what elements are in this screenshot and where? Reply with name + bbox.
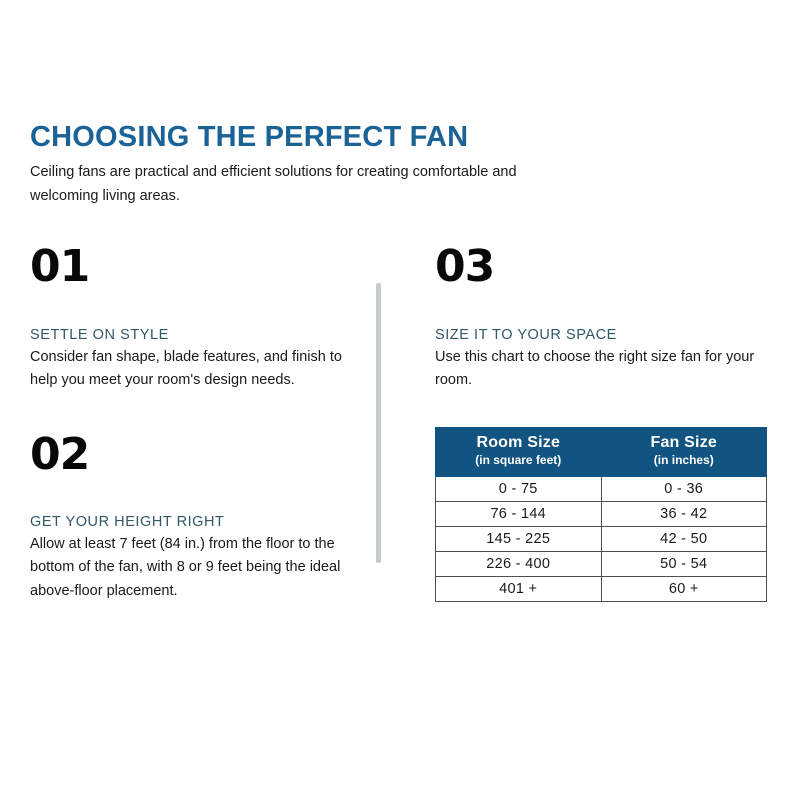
- intro-paragraph: Ceiling fans are practical and efficient…: [30, 161, 550, 208]
- table-header-row: Room Size (in square feet) Fan Size (in …: [436, 427, 767, 476]
- column-header-room-size-main: Room Size: [440, 434, 597, 452]
- column-header-fan-size-main: Fan Size: [606, 434, 763, 452]
- fan-size-chart: Room Size (in square feet) Fan Size (in …: [435, 427, 767, 602]
- table-row: 145 - 225 42 - 50: [436, 526, 767, 551]
- cell-fan-size: 50 - 54: [601, 551, 767, 576]
- step-block-03: 03 SIZE IT TO YOUR SPACE Use this chart …: [435, 245, 770, 393]
- table-row: 0 - 75 0 - 36: [436, 476, 767, 501]
- table-row: 226 - 400 50 - 54: [436, 551, 767, 576]
- header-block: CHOOSING THE PERFECT FAN Ceiling fans ar…: [30, 122, 590, 208]
- step-body-02: Allow at least 7 feet (84 in.) from the …: [30, 533, 350, 603]
- step-body-01: Consider fan shape, blade features, and …: [30, 346, 350, 393]
- step-text-01: SETTLE ON STYLE Consider fan shape, blad…: [30, 327, 350, 393]
- right-column: 03 SIZE IT TO YOUR SPACE Use this chart …: [435, 245, 770, 602]
- cell-room-size: 76 - 144: [436, 501, 602, 526]
- cell-room-size: 0 - 75: [436, 476, 602, 501]
- cell-room-size: 401 +: [436, 576, 602, 601]
- column-header-fan-size-unit: (in inches): [606, 453, 763, 467]
- step-block-02: 02 GET YOUR HEIGHT RIGHT Allow at least …: [30, 433, 350, 603]
- step-body-03: Use this chart to choose the right size …: [435, 346, 770, 393]
- cell-fan-size: 42 - 50: [601, 526, 767, 551]
- step-text-03: SIZE IT TO YOUR SPACE Use this chart to …: [435, 327, 770, 393]
- cell-room-size: 226 - 400: [436, 551, 602, 576]
- table-body: 0 - 75 0 - 36 76 - 144 36 - 42 145 - 225…: [436, 476, 767, 601]
- left-column: 01 SETTLE ON STYLE Consider fan shape, b…: [30, 245, 350, 603]
- column-header-room-size-unit: (in square feet): [440, 453, 597, 467]
- cell-room-size: 145 - 225: [436, 526, 602, 551]
- step-number-03: 03: [435, 245, 770, 289]
- cell-fan-size: 36 - 42: [601, 501, 767, 526]
- step-heading-03: SIZE IT TO YOUR SPACE: [435, 327, 770, 343]
- table-row: 401 + 60 +: [436, 576, 767, 601]
- step-number-01: 01: [30, 245, 350, 289]
- table-row: 76 - 144 36 - 42: [436, 501, 767, 526]
- step-heading-02: GET YOUR HEIGHT RIGHT: [30, 514, 350, 530]
- cell-fan-size: 0 - 36: [601, 476, 767, 501]
- step-text-02: GET YOUR HEIGHT RIGHT Allow at least 7 f…: [30, 514, 350, 603]
- column-divider: [376, 283, 381, 563]
- step-number-02: 02: [30, 433, 350, 477]
- column-header-room-size: Room Size (in square feet): [436, 427, 602, 476]
- table-head: Room Size (in square feet) Fan Size (in …: [436, 427, 767, 476]
- step-block-01: 01 SETTLE ON STYLE Consider fan shape, b…: [30, 245, 350, 393]
- page-title: CHOOSING THE PERFECT FAN: [30, 122, 590, 152]
- cell-fan-size: 60 +: [601, 576, 767, 601]
- column-header-fan-size: Fan Size (in inches): [601, 427, 767, 476]
- infographic-page: CHOOSING THE PERFECT FAN Ceiling fans ar…: [0, 0, 800, 800]
- step-heading-01: SETTLE ON STYLE: [30, 327, 350, 343]
